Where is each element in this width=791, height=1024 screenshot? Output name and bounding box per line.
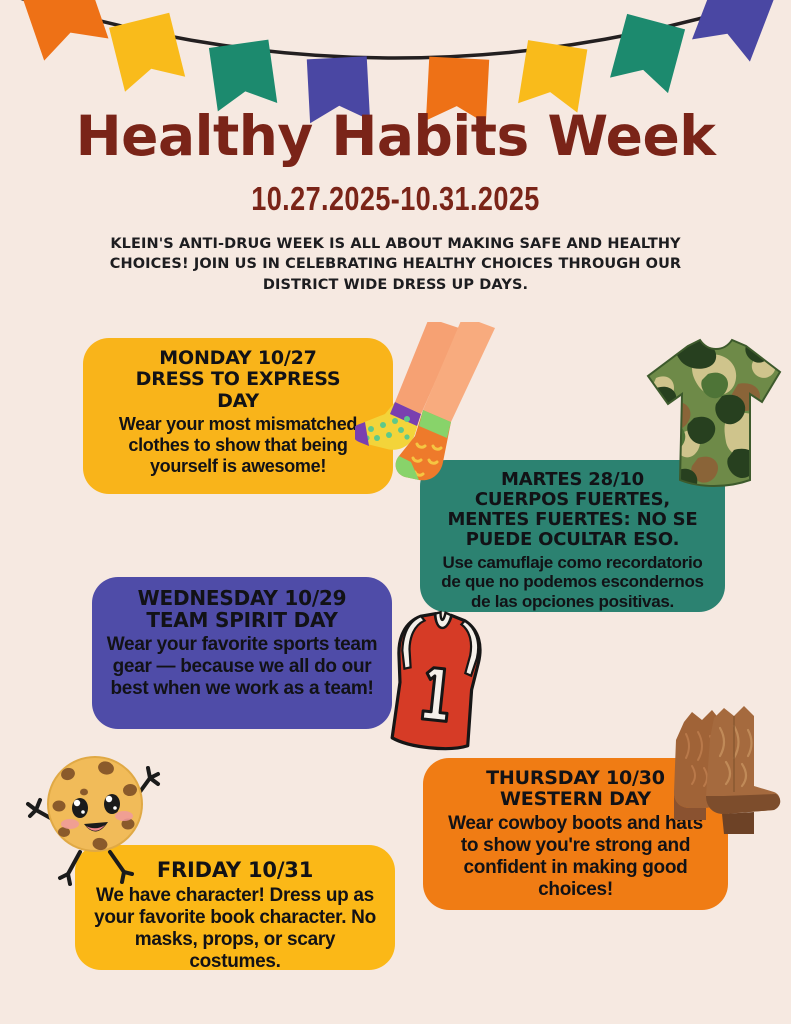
bunting-flag-blue-2: [692, 0, 776, 62]
camouflage-tshirt-illustration: [638, 328, 788, 498]
poster-canvas: Healthy Habits Week 10.27.2025-10.31.202…: [0, 0, 791, 1024]
page-title: Healthy Habits Week: [0, 108, 791, 166]
day-card-monday-body: Wear your most mismatched clothes to sho…: [97, 414, 379, 477]
day-card-monday[interactable]: MONDAY 10/27 DRESS TO EXPRESS DAY Wear y…: [83, 338, 393, 494]
intro-paragraph: KLEIN'S ANTI-DRUG WEEK IS ALL ABOUT MAKI…: [106, 234, 686, 296]
cowboy-boots-illustration: [662, 700, 784, 845]
date-range: 10.27.2025-10.31.2025: [71, 180, 720, 218]
mismatched-socks-illustration: [355, 322, 495, 487]
day-card-wednesday[interactable]: WEDNESDAY 10/29 TEAM SPIRIT DAY Wear you…: [92, 577, 392, 729]
day-card-wednesday-body: Wear your favorite sports team gear — be…: [106, 634, 378, 700]
day-card-monday-heading: MONDAY 10/27 DRESS TO EXPRESS DAY: [97, 348, 379, 412]
poster-header: Healthy Habits Week 10.27.2025-10.31.202…: [0, 108, 791, 295]
bunting-flag-yellow-2: [518, 40, 587, 113]
bunting-flag-orange-1: [21, 0, 109, 61]
day-card-tuesday-body: Use camuflaje como recordatorio de que n…: [434, 553, 711, 612]
bunting-flag-teal-1: [209, 40, 277, 112]
day-card-wednesday-heading: WEDNESDAY 10/29 TEAM SPIRIT DAY: [106, 587, 378, 632]
basketball-jersey-illustration: [378, 608, 493, 760]
chocolate-chip-cookie-character-illustration: [18, 748, 178, 898]
